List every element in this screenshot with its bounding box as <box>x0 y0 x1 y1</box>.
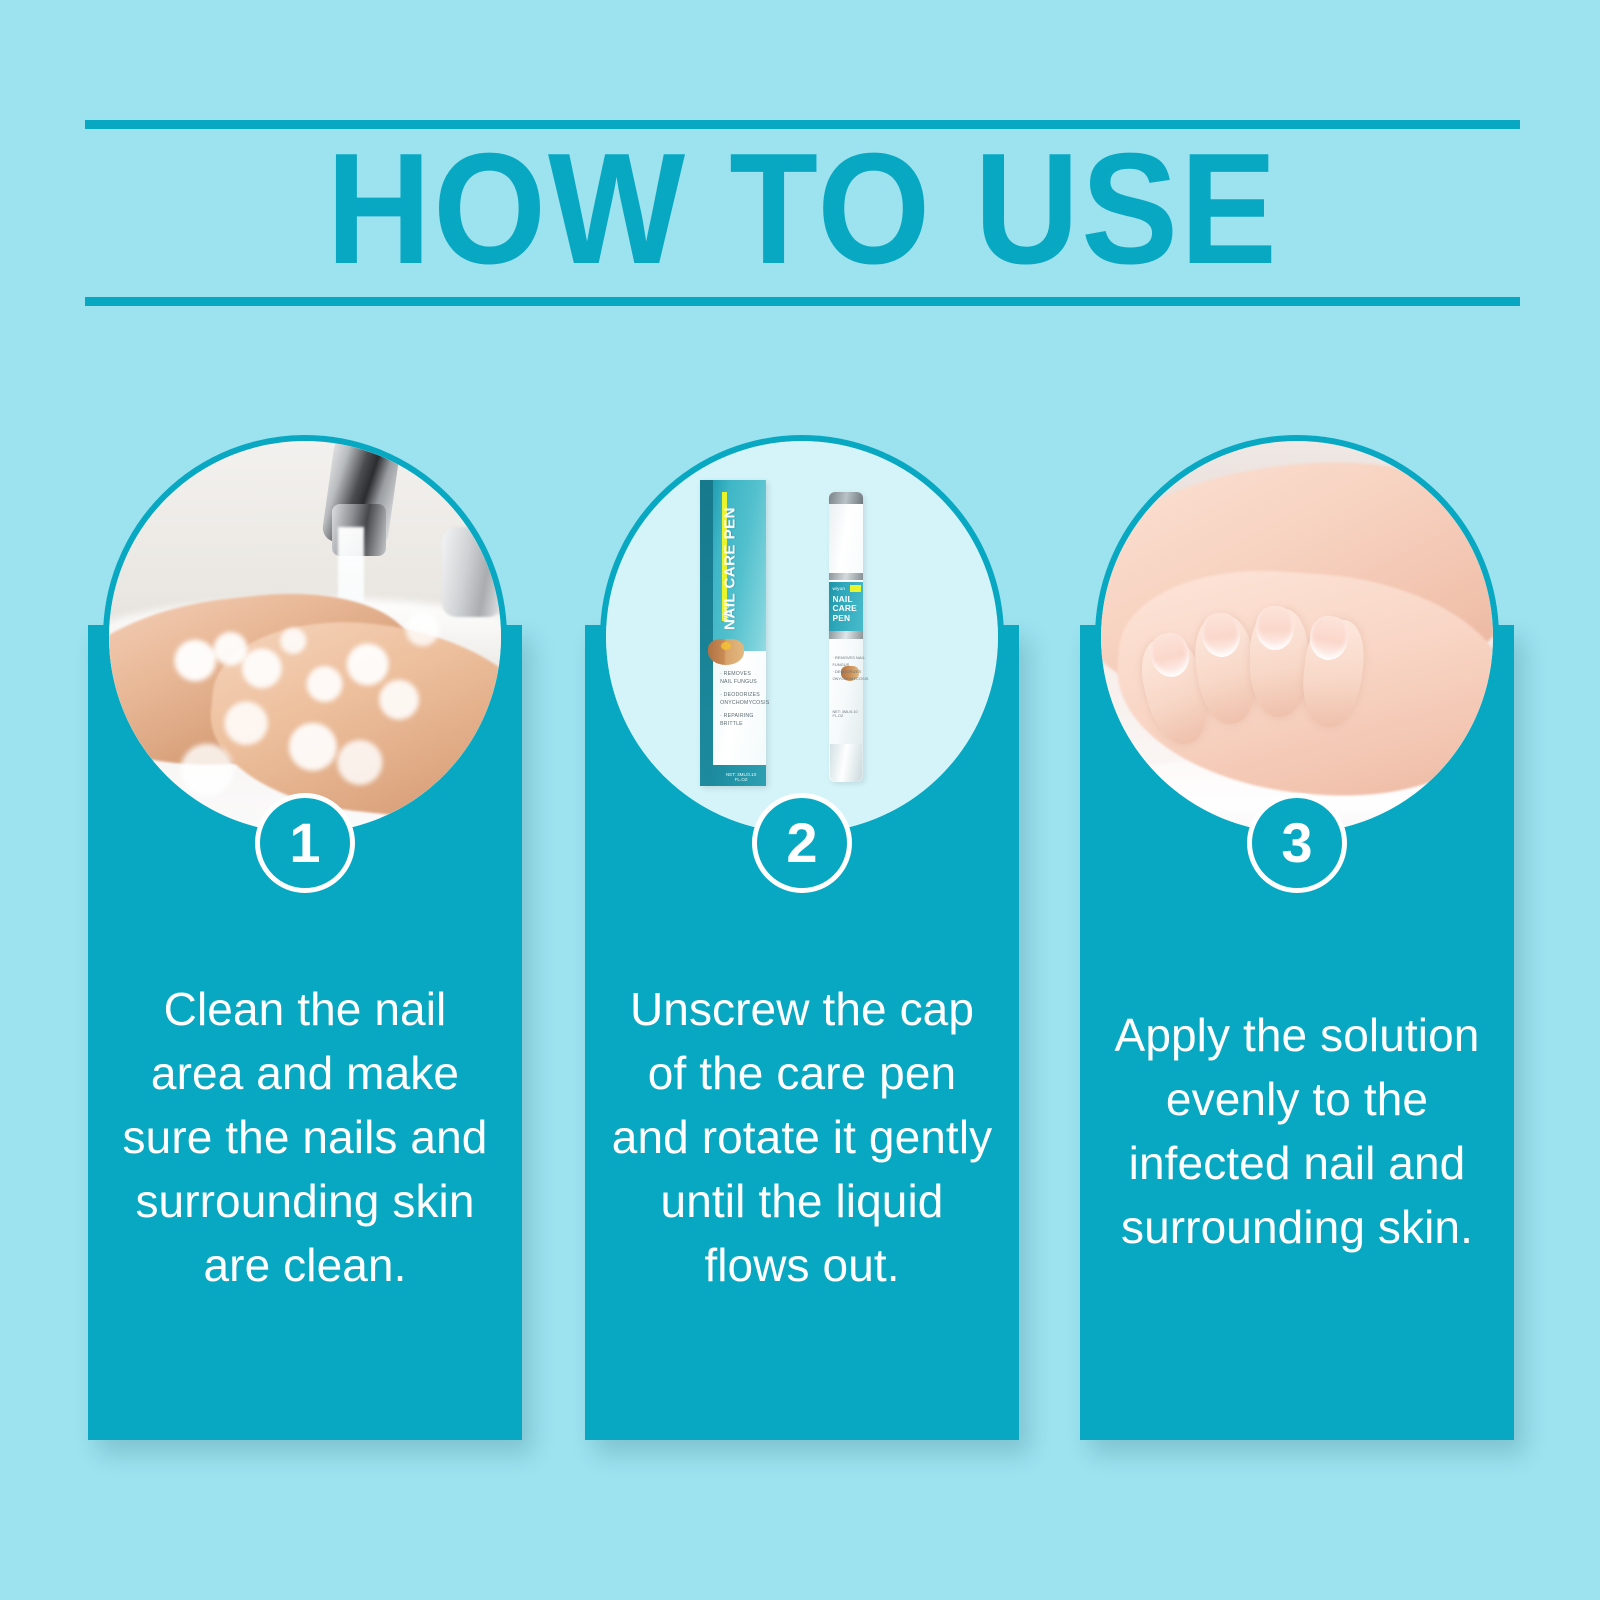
step-number-badge-2: 2 <box>752 793 852 893</box>
step-card-1: 1 Clean the nail area and make sure the … <box>88 625 522 1440</box>
pen-bullet: · REMOVES NAIL FUNGUS <box>832 654 868 668</box>
nail-highlight <box>721 642 731 650</box>
product-bullet: · REMOVES NAIL FUNGUS <box>720 670 762 686</box>
product-box-net-weight: NET: 3ML/0.10 FL.OZ <box>720 772 762 782</box>
step-3-image-circle <box>1095 435 1499 839</box>
manicured-hands-photo <box>1101 441 1493 833</box>
step-2-image-circle: NAIL CARE PEN wiyun · REMOVES NAIL FUNGU… <box>600 435 1004 839</box>
product-bullet: · REPAIRING BRITTLE <box>720 712 762 728</box>
pen-bullets: · REMOVES NAIL FUNGUS · DEODORIZES ONYCH… <box>832 654 868 682</box>
step-number-badge-1: 1 <box>255 793 355 893</box>
steps-container: 1 Clean the nail area and make sure the … <box>0 0 1600 1600</box>
hands-washing-photo <box>109 441 501 833</box>
product-bullet: · DEODORIZES ONYCHOMYCOSIS <box>720 691 762 707</box>
pen-net-weight: NET: 3ML/0.10 FL.OZ <box>832 710 863 718</box>
step-card-3: 3 Apply the solution evenly to the infec… <box>1080 625 1514 1440</box>
step-caption-3: Apply the solution evenly to the infecte… <box>1104 1003 1490 1259</box>
step-card-2: NAIL CARE PEN wiyun · REMOVES NAIL FUNGU… <box>585 625 1019 1440</box>
product-box: NAIL CARE PEN wiyun · REMOVES NAIL FUNGU… <box>700 480 766 786</box>
pen-bullet: · DEODORIZES ONYCHOMYCOSIS <box>832 668 868 682</box>
product-box-bullets: · REMOVES NAIL FUNGUS · DEODORIZES ONYCH… <box>720 670 762 733</box>
pen-brand: wiyun <box>832 586 845 591</box>
step-caption-2: Unscrew the cap of the care pen and rota… <box>609 977 995 1297</box>
pen-name: NAIL CARE PEN <box>832 595 861 624</box>
product-box-brand: wiyun <box>722 530 731 690</box>
nail-care-pen-product-photo: NAIL CARE PEN wiyun · REMOVES NAIL FUNGU… <box>606 441 998 833</box>
step-caption-1: Clean the nail area and make sure the na… <box>112 977 498 1297</box>
step-number-badge-3: 3 <box>1247 793 1347 893</box>
product-pen: wiyun NAIL CARE PEN · REMOVES NAIL FUNGU… <box>829 492 863 782</box>
step-1-image-circle <box>103 435 507 839</box>
